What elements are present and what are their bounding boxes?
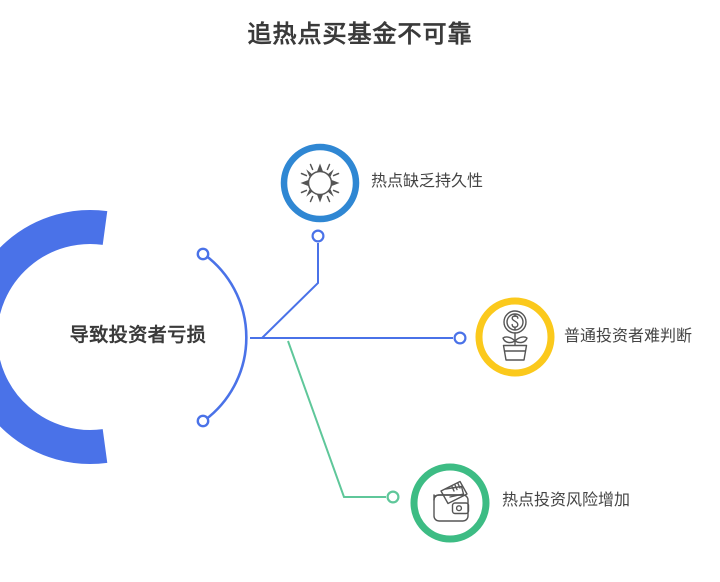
node-top[interactable] (284, 147, 356, 219)
node-top-ring (284, 147, 356, 219)
hub-arc-endpoint-top-dot (198, 249, 208, 259)
node-middle[interactable] (479, 301, 551, 373)
node-top-label: 热点缺乏持久性 (371, 171, 483, 193)
connector-endpoint-middle-dot (455, 333, 466, 344)
infographic-canvas: 追热点买基金不可靠 (0, 0, 720, 582)
connector-endpoint-top-dot (313, 231, 324, 242)
hub-label: 导致投资者亏损 (40, 322, 236, 350)
connector-line-top (262, 243, 318, 338)
connector-endpoint-bottom-dot (388, 492, 399, 503)
node-bottom[interactable] (414, 467, 486, 539)
node-bottom-label: 热点投资风险增加 (502, 490, 630, 512)
hub-arc-endpoint-bottom-dot (198, 416, 208, 426)
connector-line-bottom (288, 341, 386, 497)
node-middle-label: 普通投资者难判断 (564, 326, 692, 348)
